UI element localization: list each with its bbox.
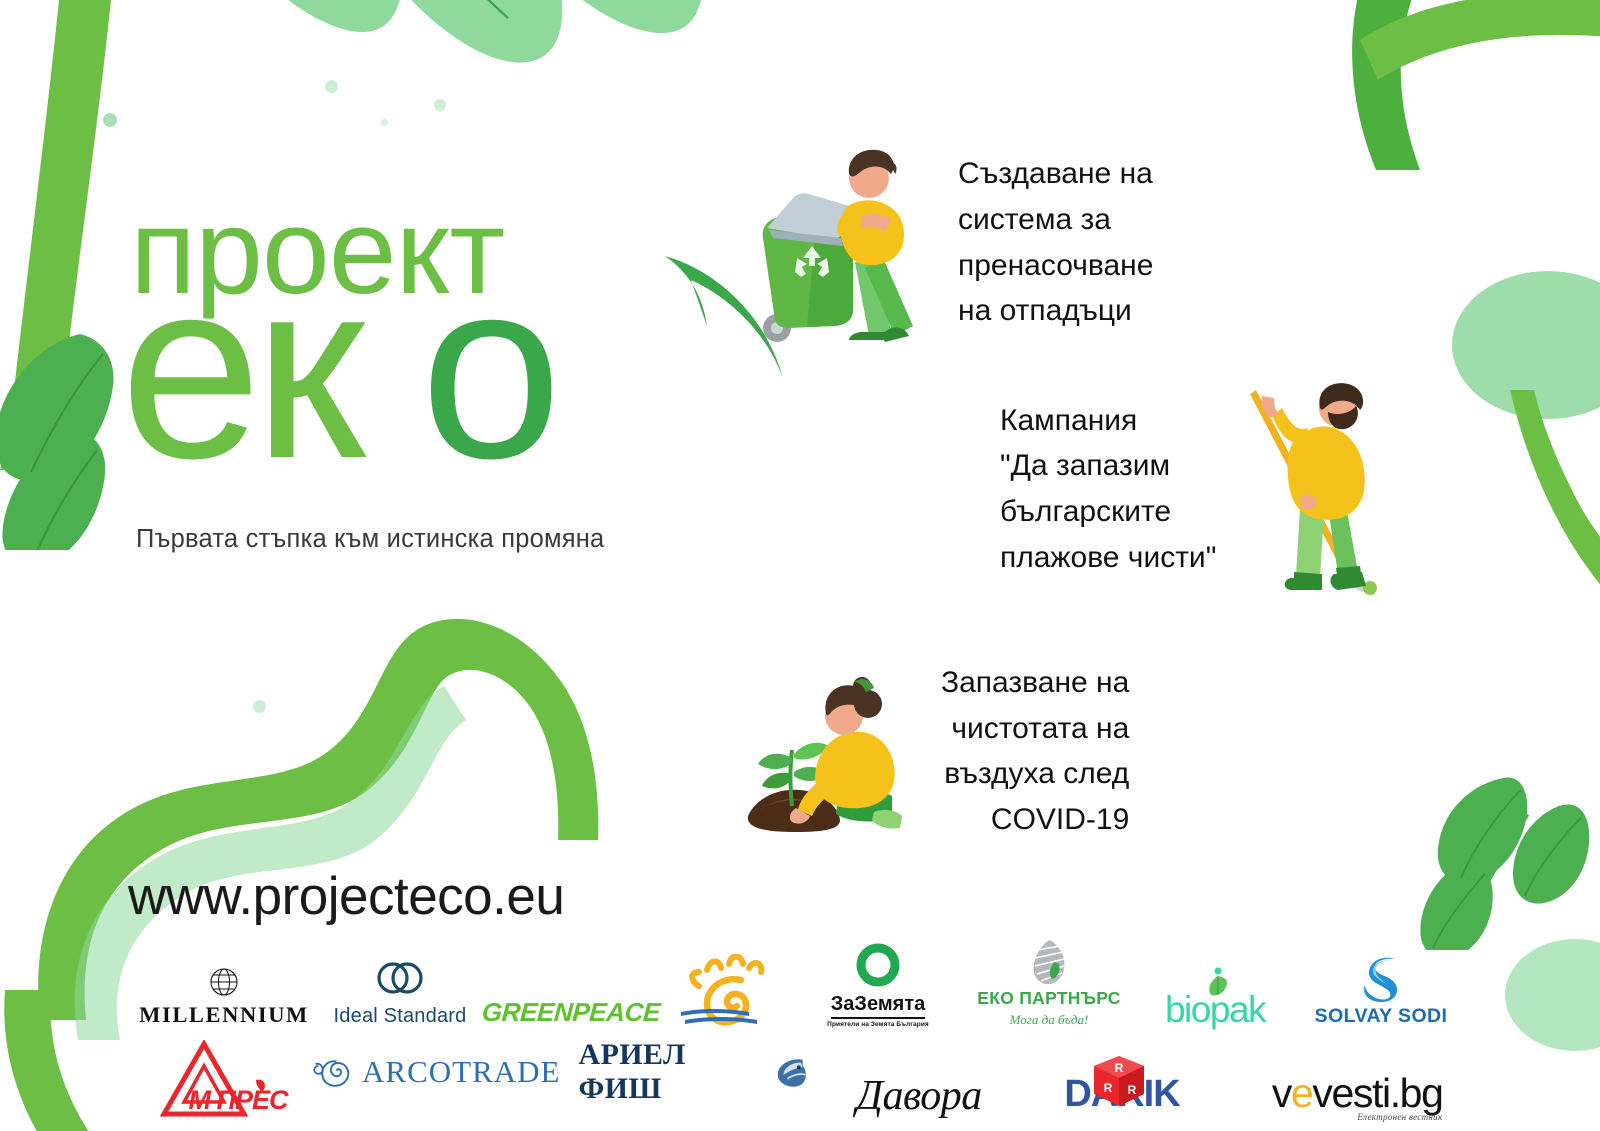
right-green-arc-shape: [1280, 0, 1600, 170]
decor-dot: [325, 80, 338, 93]
sponsor-millennium[interactable]: MILLENNIUM: [144, 932, 304, 1028]
feature-waste-redirection: Създаване на система за пренасочване на …: [745, 140, 1153, 345]
sponsor-davora[interactable]: Давора: [827, 1028, 1012, 1126]
fish-icon: [774, 1053, 808, 1091]
sponsor-greenpeace[interactable]: GREENPEACE: [496, 932, 646, 1028]
sponsor-ariel-fish[interactable]: АРИЕЛ ФИШ: [579, 1028, 809, 1126]
sponsor-darik[interactable]: DARIK R R R: [1030, 1028, 1215, 1126]
feature-clean-beaches-campaign: Кампания "Да запазим българските плажове…: [1000, 378, 1392, 600]
interlocking-circles-icon: [374, 957, 426, 999]
sponsor-name-text: Давора: [856, 1073, 981, 1119]
blue-swirl-icon: [1357, 953, 1405, 1003]
right-top-green-band-shape: [1360, 0, 1600, 120]
decor-dot: [434, 99, 446, 111]
eco-project-poster: проект ек о Първата стъпка към истинска …: [0, 0, 1600, 1131]
woman-planting-seedling-icon: [742, 666, 907, 836]
svg-text:R: R: [1103, 1081, 1112, 1095]
green-ring-icon: [853, 940, 903, 990]
feature-text: Запазване на чистотата на въздуха след C…: [941, 660, 1129, 842]
sponsor-name: GREENPEACE: [481, 997, 661, 1028]
sponsor-sun-sea[interactable]: [672, 932, 782, 1028]
sponsor-arcotrade[interactable]: ARCOTRADE: [311, 1028, 561, 1126]
sponsor-name-highlight: e: [1291, 1070, 1312, 1116]
sponsor-ideal-standard[interactable]: Ideal Standard: [330, 932, 470, 1028]
sponsor-name: vevesti.bg: [1272, 1073, 1443, 1114]
sponsor-za-zemyata[interactable]: ЗаЗемята Приятели на Земята България: [808, 932, 948, 1028]
sponsor-vevesti[interactable]: vevesti.bg Електронен вестник: [1233, 1028, 1443, 1126]
sponsor-name: SOLVAY SODI: [1315, 1005, 1448, 1028]
sponsor-subtitle: Електронен вестник: [1357, 1112, 1442, 1122]
feature-text: Създаване на система за пренасочване на …: [958, 151, 1153, 333]
sponsor-name: АРИЕЛ ФИШ: [579, 1038, 769, 1106]
red-dice-icon: R R R: [1088, 1052, 1150, 1114]
logo-eko-part1: ек: [120, 227, 357, 512]
bottom-right-leaves-shape: [1395, 770, 1600, 950]
sponsor-row-2: М ПРЕС ARCOTRADE АРИЕЛ ФИШ: [0, 1028, 1600, 1126]
globe-icon: [208, 966, 240, 998]
right-green-stem-shape: [1490, 390, 1600, 630]
sponsor-name: biopak: [1165, 991, 1265, 1028]
sponsor-solvay-sodi[interactable]: SOLVAY SODI: [1306, 932, 1456, 1028]
sponsor-name: Давора: [856, 1072, 981, 1120]
logo-block: проект ек о Първата стъпка към истинска …: [120, 190, 720, 554]
logo-word-eko: ек о: [120, 304, 720, 519]
monstera-leaf-top-shape: [190, 0, 710, 120]
striped-leaf-icon: [1030, 938, 1068, 986]
sponsor-name-post: vesti.bg: [1312, 1070, 1442, 1116]
sponsor-name: ARCOTRADE: [362, 1054, 560, 1090]
sponsor-m-pres[interactable]: М ПРЕС: [158, 1028, 293, 1126]
tagline: Първата стъпка към истинска промяна: [136, 525, 720, 554]
right-pale-blob-shape: [1430, 255, 1600, 435]
decor-dot: [381, 119, 388, 126]
decor-dot: [408, 678, 418, 688]
sponsor-subtitle: Приятели на Земята България: [827, 1021, 929, 1028]
sponsor-subtitle: Мога да бъда!: [1010, 1012, 1089, 1028]
spiral-icon: [311, 1048, 355, 1096]
sponsor-row-1: MILLENNIUM Ideal Standard GREENPEACE: [0, 932, 1600, 1028]
sponsor-name: Ideal Standard: [334, 1005, 467, 1028]
sponsor-eko-partners[interactable]: ЕКО ПАРТНЪРС Мога да бъда!: [974, 932, 1124, 1028]
svg-text:R: R: [1127, 1083, 1136, 1097]
sponsor-name: MILLENNIUM: [139, 1002, 309, 1028]
decor-dot: [253, 700, 266, 713]
decor-dot: [103, 113, 117, 127]
svg-text:R: R: [1114, 1061, 1123, 1075]
sponsor-name: ЕКО ПАРТНЪРС: [977, 988, 1121, 1009]
sun-over-water-icon: [679, 954, 775, 1028]
sponsor-name: ЗаЗемята: [831, 993, 925, 1019]
feature-clean-air-after-covid: Запазване на чистотата на въздуха след C…: [742, 660, 1129, 842]
man-pushing-recycling-bin-icon: [745, 140, 920, 345]
website-url[interactable]: www.projecteco.eu: [128, 866, 564, 927]
feature-text: Кампания "Да запазим българските плажове…: [1000, 398, 1216, 580]
sponsor-logos: MILLENNIUM Ideal Standard GREENPEACE: [0, 932, 1600, 1126]
left-leaves-shape: [0, 320, 135, 550]
man-with-litter-picker-icon: [1242, 378, 1392, 600]
sponsor-name-pre: v: [1272, 1070, 1291, 1116]
sponsor-biopak[interactable]: biopak: [1150, 932, 1280, 1028]
sponsor-name: М ПРЕС: [189, 1085, 288, 1116]
